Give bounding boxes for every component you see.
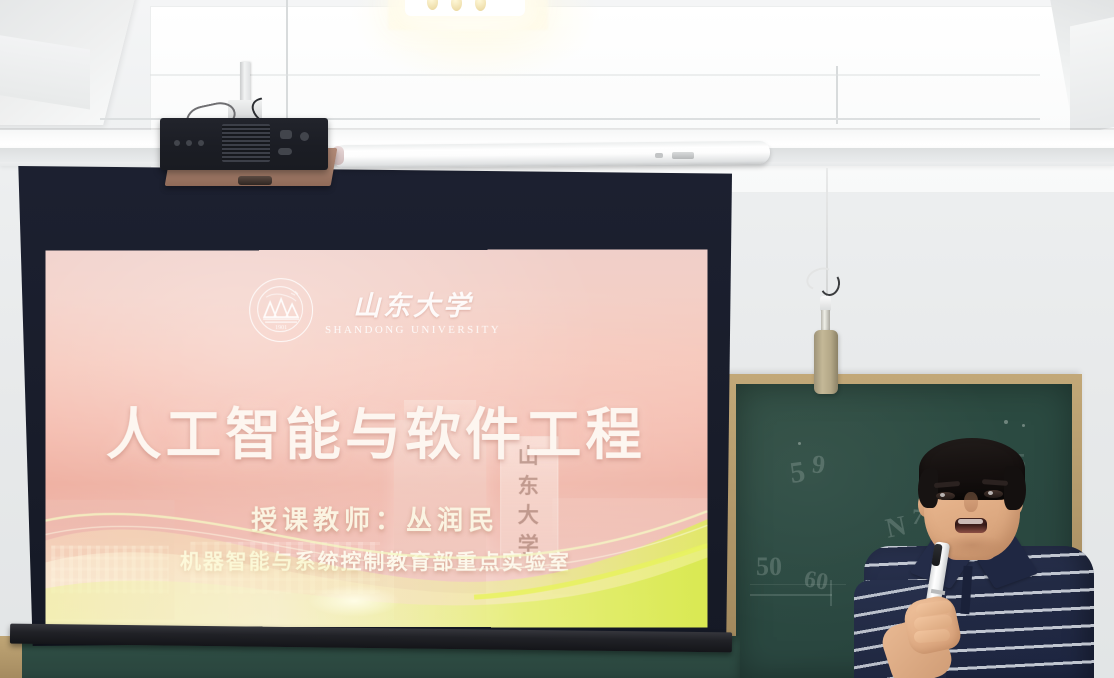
ceiling-seam-horizontal-2: [150, 74, 1040, 76]
sdu-wordmark-cn: 山东大学: [353, 284, 473, 323]
chalk-speck: [1004, 420, 1008, 424]
sdu-seal-icon: 1901: [249, 278, 313, 342]
chalk-mark: 5: [788, 455, 808, 491]
sdu-wordmark-en: SHANDONG UNIVERSITY: [325, 324, 501, 336]
chalk-line: [750, 594, 832, 596]
ceiling-fold-right-lower: [1070, 14, 1114, 137]
chalk-mark: 9: [810, 449, 826, 480]
chalk-line: [830, 580, 832, 606]
presenter: [858, 430, 1098, 678]
chalk-mark: 50: [756, 552, 782, 582]
chalk-speck: [798, 442, 801, 445]
projector-vent-grille: [222, 124, 270, 162]
hair-sideburn-left: [918, 468, 938, 508]
chalk-speck: [1022, 424, 1025, 427]
presentation-slide: 山 东 大 学 1901 山东大学 SHANDONG UNIVERSITY: [45, 249, 707, 627]
cord-metal-shaft: [821, 310, 830, 332]
sdu-logo: 1901 山东大学 SHANDONG UNIVERSITY: [45, 277, 707, 342]
eye-left: [936, 492, 955, 500]
nose: [964, 492, 978, 512]
chalk-mark: 60: [802, 566, 830, 597]
screen-roller-bracket: [655, 153, 663, 158]
sdu-wordmark: 山东大学 SHANDONG UNIVERSITY: [325, 284, 501, 336]
classroom-scene: 5 9 50 60 N 7 5 山 东 大 学: [0, 0, 1114, 678]
teeth: [958, 519, 983, 524]
cord-handle-grip[interactable]: [814, 330, 838, 394]
eye-right: [984, 490, 1003, 498]
svg-text:1901: 1901: [275, 325, 287, 331]
slide-title: 人工智能与软件工程: [45, 390, 707, 471]
hair-sideburn-right: [1004, 466, 1026, 510]
ceiling-seam-vertical: [286, 0, 288, 118]
screen-roller-casing: [333, 141, 770, 169]
projector-lens-icon: [238, 176, 272, 185]
slide-wave-graphic: [45, 477, 707, 628]
ceiling-light-icon: [405, 0, 525, 16]
screen-roller-label: [672, 152, 694, 159]
